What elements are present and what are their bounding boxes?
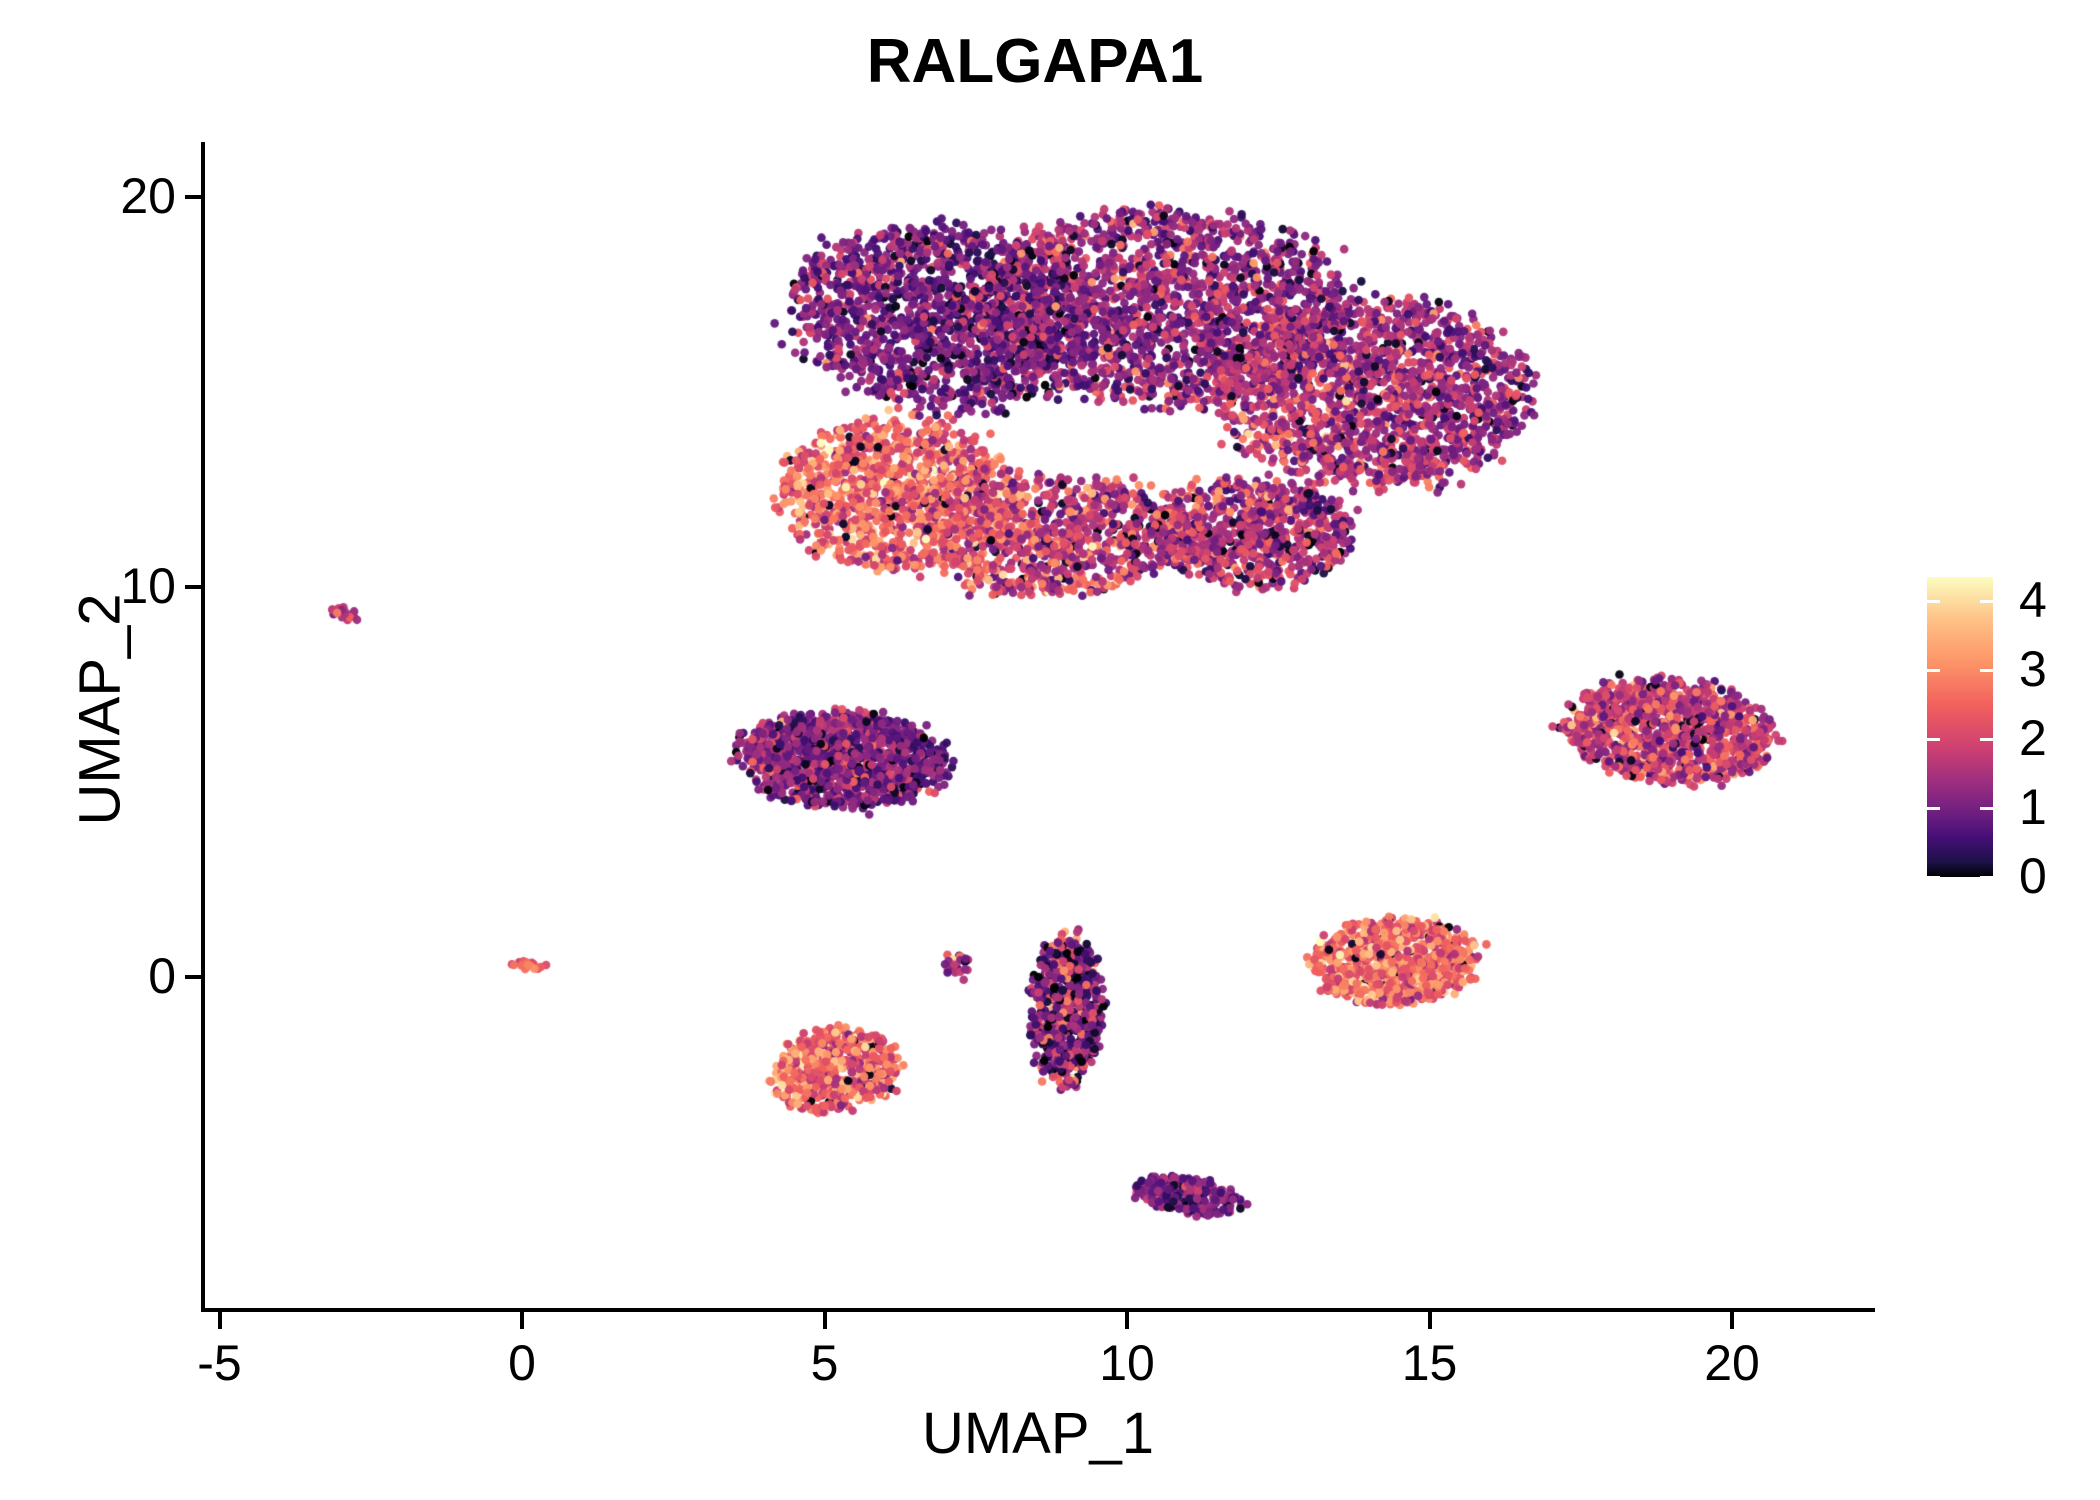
page-title: RALGAPA1 — [0, 26, 2070, 97]
colorbar-tick-mark — [1980, 807, 1993, 810]
colorbar-tick-mark — [1980, 876, 1993, 879]
y-tick-mark — [185, 975, 202, 979]
colorbar-label: 2 — [2019, 713, 2047, 763]
x-tick-label: 20 — [1672, 1338, 1792, 1388]
colorbar-tick-mark — [1927, 807, 1940, 810]
colorbar-tick-mark — [1980, 738, 1993, 741]
colorbar-tick-mark — [1927, 600, 1940, 603]
x-axis-line — [203, 1308, 1875, 1312]
x-tick-mark — [520, 1312, 524, 1329]
colorbar-tick-mark — [1980, 600, 1993, 603]
x-axis-title: UMAP_1 — [203, 1400, 1873, 1467]
colorbar-label: 0 — [2019, 851, 2047, 901]
y-tick-mark — [185, 195, 202, 199]
colorbar-tick-mark — [1980, 669, 1993, 672]
x-tick-label: 5 — [765, 1338, 885, 1388]
colorbar-label: 4 — [2019, 575, 2047, 625]
colorbar-tick-mark — [1927, 738, 1940, 741]
x-tick-label: 0 — [462, 1338, 582, 1388]
x-tick-mark — [218, 1312, 222, 1329]
color-legend: 43210 — [1927, 577, 2087, 879]
colorbar-gradient — [1927, 577, 1993, 877]
y-tick-mark — [185, 585, 202, 589]
x-tick-mark — [1125, 1312, 1129, 1329]
y-tick-label: 0 — [148, 951, 176, 1001]
x-tick-mark — [1730, 1312, 1734, 1329]
colorbar-tick-mark — [1927, 669, 1940, 672]
y-tick-label: 20 — [120, 171, 176, 221]
y-axis-line — [201, 142, 205, 1312]
colorbar-tick-mark — [1927, 876, 1940, 879]
x-tick-label: 10 — [1067, 1338, 1187, 1388]
umap-feature-plot: RALGAPA1 20100 -505101520 UMAP_1 UMAP_2 … — [0, 0, 2100, 1500]
x-tick-label: 15 — [1370, 1338, 1490, 1388]
x-tick-mark — [1428, 1312, 1432, 1329]
plot-panel — [203, 142, 1873, 1310]
x-tick-label: -5 — [160, 1338, 280, 1388]
x-tick-mark — [823, 1312, 827, 1329]
y-axis-title: UMAP_2 — [67, 510, 134, 910]
scatter-plot-canvas — [203, 142, 1873, 1310]
colorbar-label: 3 — [2019, 644, 2047, 694]
colorbar-label: 1 — [2019, 782, 2047, 832]
